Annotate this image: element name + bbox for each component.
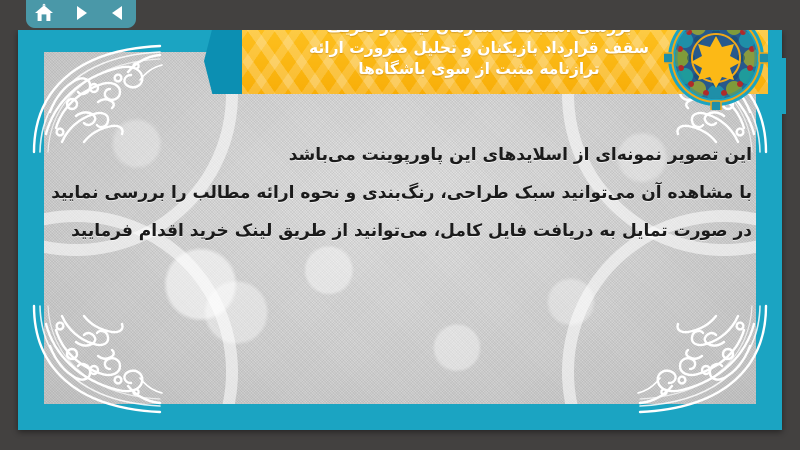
navigation-pill bbox=[26, 0, 136, 28]
back-button[interactable] bbox=[105, 2, 131, 24]
triangle-right-icon bbox=[71, 3, 91, 23]
body-line-3: در صورت تمایل به دریافت فایل کامل، می‌تو… bbox=[58, 212, 752, 250]
body-line-1: این تصویر نمونه‌ای از اسلایدهای این پاور… bbox=[58, 136, 752, 174]
viewer-toolbar bbox=[0, 0, 800, 30]
triangle-left-icon bbox=[108, 3, 128, 23]
home-icon bbox=[33, 3, 55, 23]
slide-body-text: این تصویر نمونه‌ای از اسلایدهای این پاور… bbox=[58, 136, 752, 250]
slide-viewer: این تصویر نمونه‌ای از اسلایدهای این پاور… bbox=[0, 0, 800, 450]
home-button[interactable] bbox=[31, 2, 57, 24]
forward-button[interactable] bbox=[68, 2, 94, 24]
title-band-right-accent bbox=[772, 58, 786, 114]
body-line-2: با مشاهده آن می‌توانید سبک طراحی، رنگ‌بن… bbox=[58, 174, 752, 212]
